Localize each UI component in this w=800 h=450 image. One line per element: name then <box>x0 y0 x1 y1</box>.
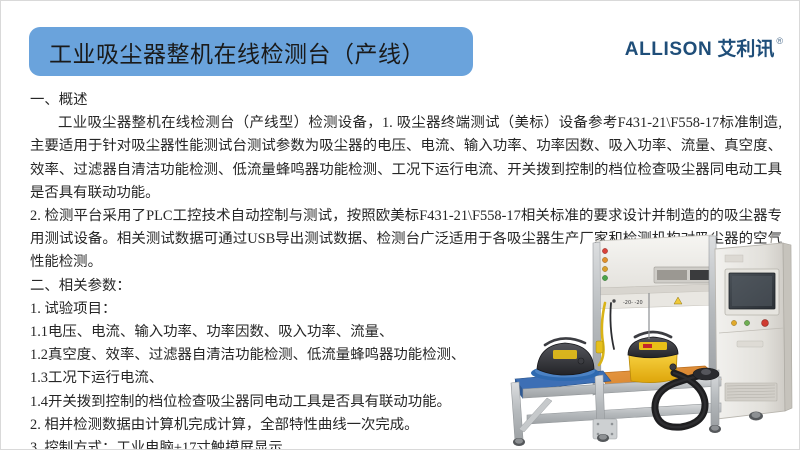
vacuum-cleaner-yellow <box>628 332 678 383</box>
paragraph-overview: 工业吸尘器整机在线检测台（产线型）检测设备，1. 吸尘器终端测试（美标）设备参考… <box>30 112 782 205</box>
control-cabinet <box>715 233 792 419</box>
hose-nozzle-tool <box>693 368 719 380</box>
vacuum-cleaner-black <box>531 338 599 381</box>
section-one-heading: 一、概述 <box>30 89 782 112</box>
instrument-module <box>654 267 712 283</box>
equipment-photo: -20- -20 <box>453 233 797 449</box>
registered-trademark-icon: ® <box>776 36 783 46</box>
logo-text-cn: 艾利讯 <box>717 39 774 61</box>
touch-screen[interactable] <box>725 269 779 315</box>
brand-logo: ALLISON 艾利讯 ® <box>625 39 783 65</box>
slide-title-bar: 工业吸尘器整机在线检测台（产线） <box>29 27 473 76</box>
svg-text:-20- -20: -20- -20 <box>623 300 643 306</box>
page-title: 工业吸尘器整机在线检测台（产线） <box>49 35 425 69</box>
slide-canvas: 工业吸尘器整机在线检测台（产线） ALLISON 艾利讯 ® 一、概述 工业吸尘… <box>0 0 800 450</box>
ventilation-grille <box>725 383 777 401</box>
logo-text-en: ALLISON <box>625 39 713 61</box>
